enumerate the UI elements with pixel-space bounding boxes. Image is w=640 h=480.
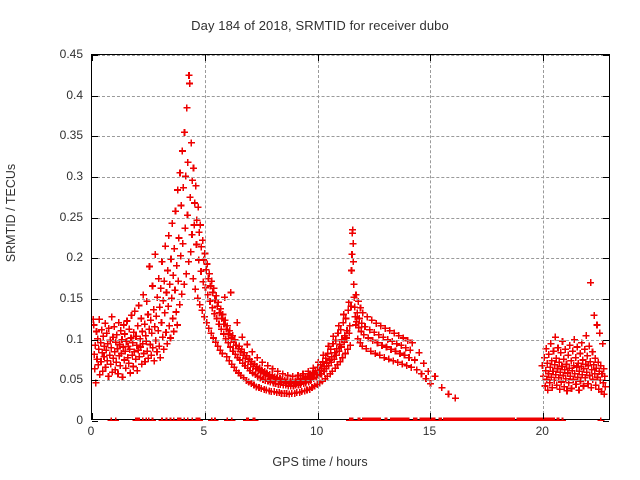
y-axis-title: SRMTID / TECUs <box>4 128 18 298</box>
y-axis-tick-label: 0.1 <box>66 332 83 346</box>
y-axis-tick-right <box>603 218 609 219</box>
y-axis-tick-right <box>603 96 609 97</box>
gridline-horizontal <box>92 177 609 178</box>
y-axis-tick-right <box>603 177 609 178</box>
gridline-vertical <box>430 55 431 419</box>
plot-area <box>91 54 610 420</box>
y-axis-tick <box>92 258 98 259</box>
gridline-horizontal <box>92 55 609 56</box>
y-axis-tick-right <box>603 380 609 381</box>
y-axis-tick-right <box>603 136 609 137</box>
x-axis-tick <box>318 413 319 419</box>
gridline-horizontal <box>92 380 609 381</box>
scatter-points-layer <box>92 55 611 421</box>
gridline-horizontal <box>92 136 609 137</box>
gridline-horizontal <box>92 218 609 219</box>
x-axis-tick-label: 15 <box>423 424 436 438</box>
x-axis-tick <box>543 413 544 419</box>
gridline-vertical <box>543 55 544 419</box>
gridline-horizontal <box>92 96 609 97</box>
x-axis-tick-top <box>543 55 544 61</box>
gridline-horizontal <box>92 299 609 300</box>
y-axis-tick <box>92 421 98 422</box>
y-axis-tick <box>92 96 98 97</box>
gridline-vertical <box>318 55 319 419</box>
x-axis-tick-top <box>318 55 319 61</box>
x-axis-tick-label: 5 <box>200 424 207 438</box>
x-axis-tick <box>430 413 431 419</box>
y-axis-tick-right <box>603 258 609 259</box>
y-axis-tick <box>92 299 98 300</box>
x-axis-title: GPS time / hours <box>0 455 640 469</box>
x-axis-tick <box>205 413 206 419</box>
y-axis-tick <box>92 177 98 178</box>
x-axis-tick-top <box>205 55 206 61</box>
y-axis-tick-right <box>603 299 609 300</box>
y-axis-tick <box>92 340 98 341</box>
y-axis-tick-label: 0.35 <box>60 128 83 142</box>
y-axis-tick-label: 0.15 <box>60 291 83 305</box>
y-axis-tick-right <box>603 55 609 56</box>
x-axis-tick-label: 0 <box>88 424 95 438</box>
gridline-vertical <box>205 55 206 419</box>
y-axis-tick-label: 0 <box>76 413 83 427</box>
y-axis-tick-right <box>603 421 609 422</box>
y-axis-tick-label: 0.4 <box>66 88 83 102</box>
page-title: Day 184 of 2018, SRMTID for receiver dub… <box>0 18 640 33</box>
x-axis-tick-labels: 05101520 <box>91 424 610 444</box>
x-axis-tick-top <box>430 55 431 61</box>
y-axis-tick-label: 0.05 <box>60 372 83 386</box>
chart-page: Day 184 of 2018, SRMTID for receiver dub… <box>0 0 640 480</box>
x-axis-tick-top <box>92 55 93 61</box>
x-axis-tick <box>92 413 93 419</box>
y-axis-tick <box>92 218 98 219</box>
x-axis-tick-label: 10 <box>310 424 323 438</box>
y-axis-tick <box>92 136 98 137</box>
y-axis-tick <box>92 380 98 381</box>
y-axis-tick-label: 0.2 <box>66 250 83 264</box>
x-axis-tick-label: 20 <box>536 424 549 438</box>
y-axis-tick-label: 0.3 <box>66 169 83 183</box>
y-axis-tick-label: 0.45 <box>60 47 83 61</box>
gridline-horizontal <box>92 340 609 341</box>
y-axis-tick-right <box>603 340 609 341</box>
gridline-horizontal <box>92 258 609 259</box>
y-axis-tick-label: 0.25 <box>60 210 83 224</box>
